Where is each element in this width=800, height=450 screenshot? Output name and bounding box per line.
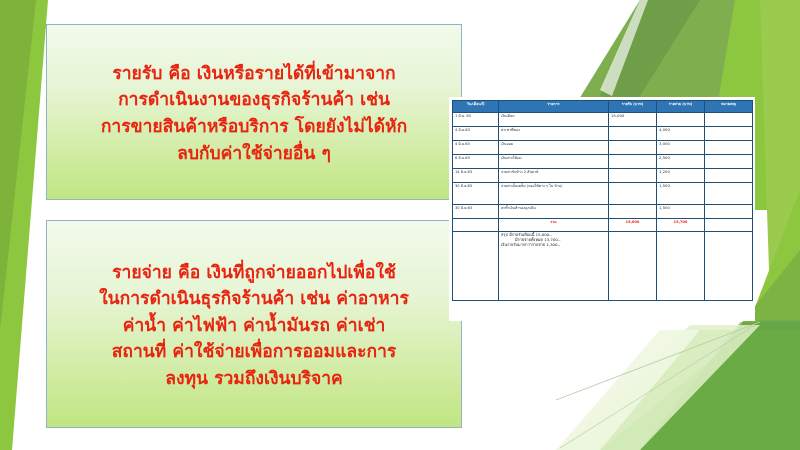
cell-income: [609, 169, 657, 183]
cell-income: [609, 141, 657, 155]
col-header-item: รายการ: [499, 101, 609, 113]
cell-date: 30 มิ.ย.63: [453, 205, 499, 219]
summary-income-blank: [609, 232, 657, 301]
ledger-total-row: รวม 15,000 13,700: [453, 219, 753, 232]
expense-line-4: สถานที่ ค่าใช้จ่ายเพื่อการออมและการ: [59, 339, 449, 366]
income-line-1: รายรับ คือ เงินหรือรายได้ที่เข้ามาจาก: [59, 61, 449, 88]
total-income: 15,000: [609, 219, 657, 232]
table-row: 14 มิ.ย.63 จ่ายค่ากับข้าว 2 สัปดาห์ 1,20…: [453, 169, 753, 183]
cell-date: 30 มิ.ย.63: [453, 183, 499, 205]
cell-expense: 1,200: [657, 169, 705, 183]
expense-line-5: ลงทุน รวมถึงเงินบริจาค: [59, 366, 449, 393]
table-row: 30 มิ.ย.63 จ่ายค่าเบ็ดเตล็ด (ของใช้ต่าง …: [453, 183, 753, 205]
table-row: 30 มิ.ย.63 สะท้ำเงินสำรองฉุกเฉิน 1,500: [453, 205, 753, 219]
cell-desc: จ่ายค่ากับข้าว 2 สัปดาห์: [499, 169, 609, 183]
cell-desc: สะท้ำเงินสำรองฉุกเฉิน: [499, 205, 609, 219]
ledger-table-card: วัน/เดือน/ปี รายการ รายรับ (บาท) รายจ่าย…: [449, 97, 755, 321]
cell-expense: 3,000: [657, 141, 705, 155]
summary-date-blank: [453, 232, 499, 301]
summary-label: สรุป: [501, 232, 508, 237]
cell-desc: จ่ายค่าเบ็ดเตล็ด (ของใช้ต่าง ๆ ใน บ้าน): [499, 183, 609, 205]
cell-expense: 1,500: [657, 183, 705, 205]
ledger-table: วัน/เดือน/ปี รายการ รายรับ (บาท) รายจ่าย…: [452, 100, 753, 301]
col-header-income: รายรับ (บาท): [609, 101, 657, 113]
cell-date: 4 มิ.ย.63: [453, 127, 499, 141]
cell-income: [609, 183, 657, 205]
summary-expense-blank: [657, 232, 705, 301]
cell-desc: เงินฝากให้แม่: [499, 155, 609, 169]
income-definition-box: รายรับ คือ เงินหรือรายได้ที่เข้ามาจาก กา…: [46, 24, 462, 200]
income-line-4: ลบกับค่าใช้จ่ายอื่น ๆ: [59, 141, 449, 168]
cell-note: [705, 205, 753, 219]
cell-date: 1 มิ.ย. 63: [453, 113, 499, 127]
cell-expense: 2,500: [657, 155, 705, 169]
cell-date: 6 มิ.ย.63: [453, 155, 499, 169]
cell-expense: [657, 113, 705, 127]
cell-desc: ค่าเช่าที่ของ: [499, 127, 609, 141]
cell-note: [705, 141, 753, 155]
cell-income: [609, 155, 657, 169]
income-line-2: การดำเนินงานของธุรกิจร้านค้า เช่น: [59, 87, 449, 114]
cell-date: 14 มิ.ย.63: [453, 169, 499, 183]
cell-note: [705, 127, 753, 141]
expense-definition-box: รายจ่าย คือ เงินที่ถูกจ่ายออกไปเพื่อใช้ …: [46, 220, 462, 428]
summary-line-3: เงินรายรับมากกว่ารายจ่าย 1,300.-: [501, 243, 606, 248]
cell-note: [705, 169, 753, 183]
table-row: 4 มิ.ย.63 ค่าเช่าที่ของ 4,000: [453, 127, 753, 141]
summary-note-blank: [705, 232, 753, 301]
expense-line-1: รายจ่าย คือ เงินที่ถูกจ่ายออกไปเพื่อใช้: [59, 260, 449, 287]
col-header-date: วัน/เดือน/ปี: [453, 101, 499, 113]
ledger-body: 1 มิ.ย. 63 เงินเดือน 15,000 4 มิ.ย.63 ค่…: [453, 113, 753, 301]
cell-note: [705, 183, 753, 205]
cell-desc: เงินเดือน: [499, 113, 609, 127]
ledger-header-row: วัน/เดือน/ปี รายการ รายรับ (บาท) รายจ่าย…: [453, 101, 753, 113]
cell-note: [705, 155, 753, 169]
total-expense: 13,700: [657, 219, 705, 232]
col-header-note: หมายเหตุ: [705, 101, 753, 113]
table-row: 6 มิ.ย.63 เงินฝากให้แม่ 2,500: [453, 155, 753, 169]
total-note: [705, 219, 753, 232]
table-row: 1 มิ.ย. 63 เงินเดือน 15,000: [453, 113, 753, 127]
cell-income: [609, 205, 657, 219]
cell-desc: เงินออม: [499, 141, 609, 155]
ledger-summary-row: สรุป มีรายรับเดือนนี้ 15,000.- มีรายจ่าย…: [453, 232, 753, 301]
table-row: 4 มิ.ย.63 เงินออม 3,000: [453, 141, 753, 155]
slide-canvas: รายรับ คือ เงินหรือรายได้ที่เข้ามาจาก กา…: [0, 0, 800, 450]
col-header-expense: รายจ่าย (บาท): [657, 101, 705, 113]
cell-date: 4 มิ.ย.63: [453, 141, 499, 155]
expense-line-2: ในการดำเนินธุรกิจร้านค้า เช่น ค่าอาหาร: [59, 286, 449, 313]
cell-expense: 4,000: [657, 127, 705, 141]
cell-income: [609, 127, 657, 141]
total-label: รวม: [499, 219, 609, 232]
summary-block: สรุป มีรายรับเดือนนี้ 15,000.- มีรายจ่าย…: [499, 232, 609, 301]
income-line-3: การขายสินค้าหรือบริการ โดยยังไม่ได้หัก: [59, 114, 449, 141]
cell-income: 15,000: [609, 113, 657, 127]
total-date-blank: [453, 219, 499, 232]
cell-expense: 1,500: [657, 205, 705, 219]
cell-note: [705, 113, 753, 127]
expense-line-3: ค่าน้ำ ค่าไฟฟ้า ค่าน้ำมันรถ ค่าเช่า: [59, 313, 449, 340]
